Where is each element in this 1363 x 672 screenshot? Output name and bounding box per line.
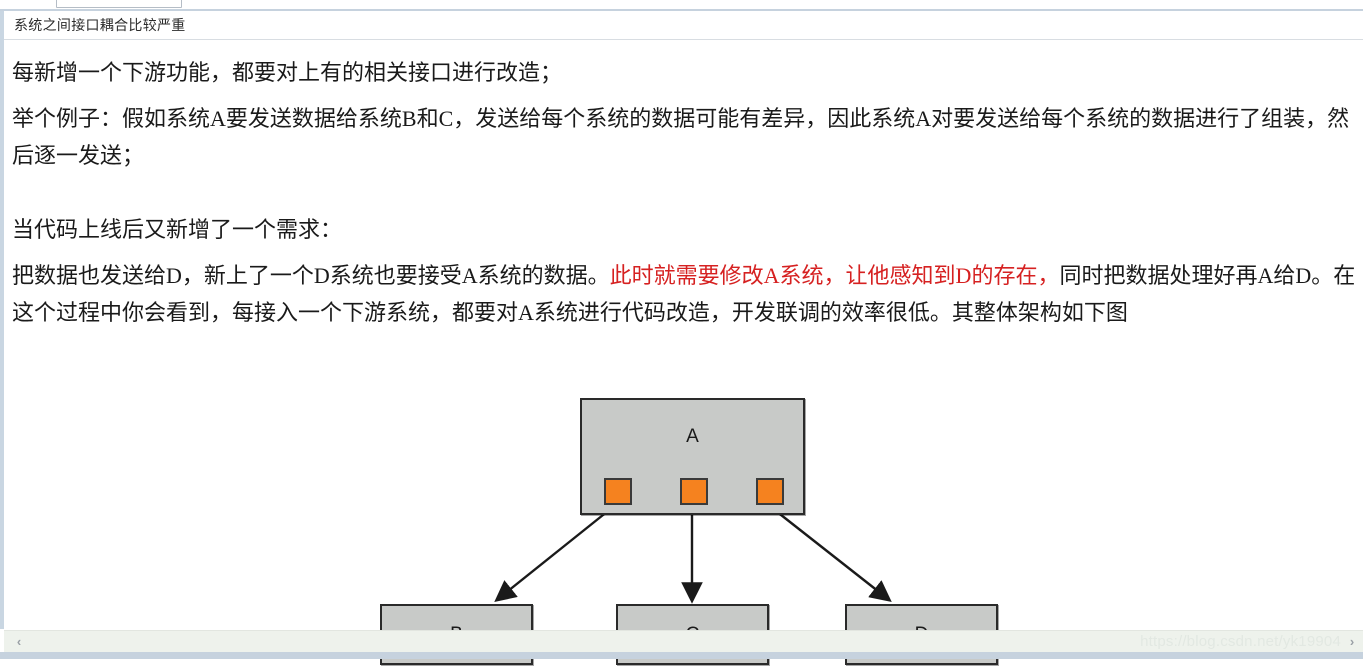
paragraph-2: 举个例子：假如系统A要发送数据给系统B和C，发送给每个系统的数据可能有差异，因此… (12, 100, 1363, 174)
paragraph-1: 每新增一个下游功能，都要对上有的相关接口进行改造； (12, 54, 1357, 91)
diagram-node-a[interactable]: A (580, 398, 805, 515)
diagram-port-right (756, 478, 784, 505)
bottom-divider (0, 652, 1363, 659)
document-body: 每新增一个下游功能，都要对上有的相关接口进行改造； 举个例子：假如系统A要发送数… (4, 42, 1363, 627)
page-title: 系统之间接口耦合比较严重 (14, 15, 186, 35)
scroll-left-icon[interactable]: ‹ (10, 631, 28, 652)
paragraph-4: 把数据也发送给D，新上了一个D系统也要接受A系统的数据。此时就需要修改A系统，让… (12, 257, 1363, 331)
horizontal-scrollbar[interactable]: ‹ https://blog.csdn.net/yk19904 › (4, 630, 1363, 652)
paragraph-4-highlight: 此时就需要修改A系统，让他感知到D的存在， (610, 263, 1060, 288)
edge-a-to-b (498, 511, 608, 599)
diagram-port-mid (680, 478, 708, 505)
watermark-text: https://blog.csdn.net/yk19904 (1140, 633, 1341, 650)
document-header: 系统之间接口耦合比较严重 (4, 11, 1363, 40)
scroll-right-icon[interactable]: › (1343, 631, 1361, 652)
diagram-port-left (604, 478, 632, 505)
paragraph-3: 当代码上线后又新增了一个需求： (12, 211, 1357, 248)
edge-a-to-d (776, 511, 888, 599)
top-text-input[interactable] (56, 0, 182, 8)
diagram-node-a-label: A (686, 426, 699, 448)
paragraph-4-text-before: 把数据也发送给D，新上了一个D系统也要接受A系统的数据。 (12, 263, 610, 288)
